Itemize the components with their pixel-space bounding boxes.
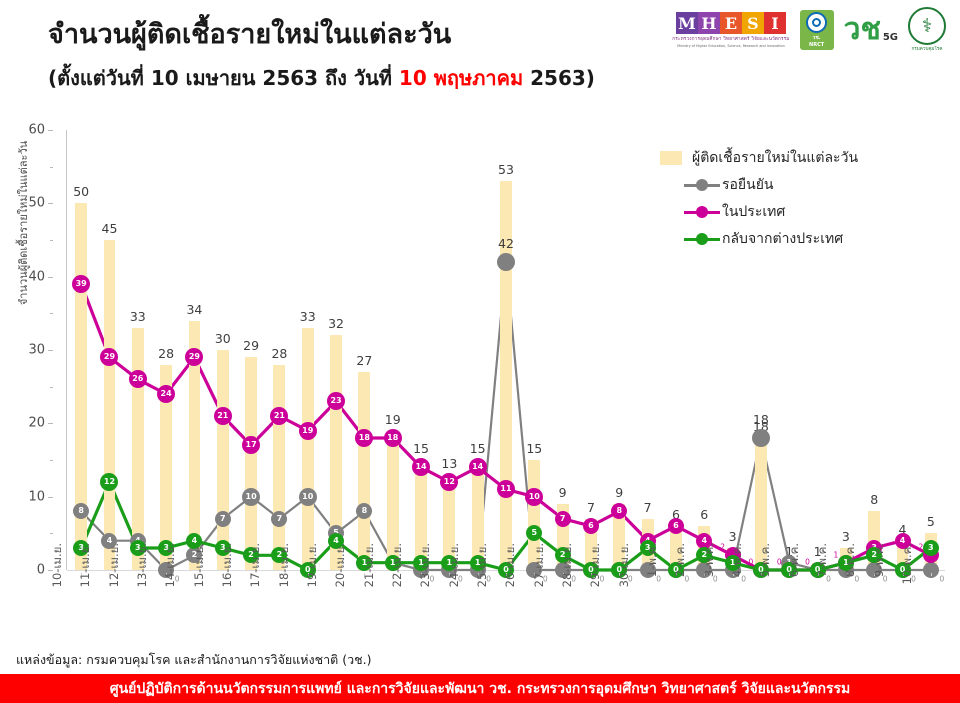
data-point[interactable]: 5 xyxy=(526,525,542,541)
x-tick-label: 15-เม.ย. xyxy=(191,543,209,607)
y-tick-20: 20 xyxy=(28,416,45,431)
data-point[interactable]: 23 xyxy=(327,392,345,410)
bar-value-label: 29 xyxy=(243,338,259,353)
subtitle-highlight: 10 พฤษภาคม xyxy=(399,66,523,90)
x-tick-label: 17-เม.ย. xyxy=(247,543,265,607)
y-tick-minor xyxy=(50,387,53,388)
nrct-line2: NRCT xyxy=(809,42,824,48)
chart-subtitle: (ตั้งแต่วันที่ 10 เมษายน 2563 ถึง วันที่… xyxy=(48,62,648,94)
data-point[interactable]: 39 xyxy=(72,275,90,293)
data-point[interactable] xyxy=(752,429,770,447)
bar-value-label: 30 xyxy=(215,331,231,346)
bar[interactable] xyxy=(273,365,285,570)
data-point[interactable]: 7 xyxy=(271,511,287,527)
legend-label-bar: ผู้ติดเชื้อรายใหม่ในแต่ละวัน xyxy=(692,147,858,169)
bar[interactable] xyxy=(245,357,257,570)
data-point[interactable]: 12 xyxy=(440,473,458,491)
mhesi-logo: M H E S I กระทรวงการอุดมศึกษา วิทยาศาสตร… xyxy=(672,12,789,48)
y-tick-0: 0 xyxy=(37,563,45,578)
data-point[interactable]: 10 xyxy=(525,488,543,506)
y-tick-minor xyxy=(50,167,53,168)
legend-item-domestic[interactable]: ในประเทศ xyxy=(660,198,950,225)
y-tick-10: 10 xyxy=(28,489,45,504)
x-tick-label: 23-เม.ย. xyxy=(417,543,435,607)
data-point[interactable]: 7 xyxy=(215,511,231,527)
bar[interactable] xyxy=(302,328,314,570)
bar-value-label: 5 xyxy=(927,514,935,529)
legend-marker-domestic xyxy=(684,205,720,219)
data-point[interactable]: 29 xyxy=(100,348,118,366)
y-tick-mark xyxy=(48,277,53,278)
chart-area: จำนวนผู้ติดเชื้อรายใหม่ในแต่ละวัน 010203… xyxy=(0,118,960,645)
legend-item-pending[interactable]: รอยืนยัน xyxy=(660,171,950,198)
bar-value-label: 9 xyxy=(615,485,623,500)
data-point[interactable]: 21 xyxy=(270,407,288,425)
x-tick-label: 30-เม.ย. xyxy=(616,543,634,607)
legend-item-imported[interactable]: กลับจากต่างประเทศ xyxy=(660,225,950,252)
mhesi-letter-i: I xyxy=(764,12,786,34)
x-tick-label: 20-เม.ย. xyxy=(332,543,350,607)
data-point[interactable]: 18 xyxy=(384,429,402,447)
data-point[interactable]: 8 xyxy=(611,503,627,519)
data-point-label: 0 xyxy=(805,558,810,566)
x-tick-label: 6-พ.ค. xyxy=(786,543,804,607)
title-block: จำนวนผู้ติดเชื้อรายใหม่ในแต่ละวัน (ตั้งแ… xyxy=(48,18,648,94)
mhesi-letters: M H E S I xyxy=(676,12,786,34)
data-point[interactable]: 8 xyxy=(356,503,372,519)
x-tick-mark xyxy=(931,573,932,576)
subtitle-suffix: 2563) xyxy=(523,66,595,90)
data-point[interactable]: 3 xyxy=(923,540,939,556)
bar-value-label: 13 xyxy=(441,456,457,471)
data-point[interactable]: 26 xyxy=(129,370,147,388)
y-tick-50: 50 xyxy=(28,196,45,211)
x-tick-label: 21-เม.ย. xyxy=(361,543,379,607)
bar-value-label: 6 xyxy=(700,507,708,522)
x-tick-label: 3-พ.ค. xyxy=(701,543,719,607)
x-tick-label: 19-เม.ย. xyxy=(304,543,322,607)
y-axis-ticks: 0102030405060 xyxy=(0,118,67,570)
bar-value-label: 3 xyxy=(842,529,850,544)
footer-banner: ศูนย์ปฏิบัติการด้านนวัตกรรมการแพทย์ และก… xyxy=(0,674,960,703)
chart-legend: ผู้ติดเชื้อรายใหม่ในแต่ละวัน รอยืนยัน ใน… xyxy=(660,144,950,252)
data-point[interactable]: 14 xyxy=(412,458,430,476)
data-point[interactable]: 6 xyxy=(583,518,599,534)
x-tick-label: 27-เม.ย. xyxy=(531,543,549,607)
data-point[interactable]: 19 xyxy=(299,422,317,440)
data-point[interactable]: 29 xyxy=(185,348,203,366)
bar-value-label: 53 xyxy=(498,162,514,177)
legend-label-pending: รอยืนยัน xyxy=(722,174,773,196)
x-tick-label: 26-เม.ย. xyxy=(502,543,520,607)
y-tick-minor xyxy=(50,313,53,314)
x-tick-label: 29-เม.ย. xyxy=(587,543,605,607)
data-point[interactable]: 14 xyxy=(469,458,487,476)
bar[interactable] xyxy=(358,372,370,570)
nrct-line1: วช. xyxy=(813,34,821,42)
x-tick-label: 2-พ.ค. xyxy=(672,543,690,607)
data-point[interactable]: 11 xyxy=(497,480,515,498)
data-point[interactable]: 6 xyxy=(668,518,684,534)
legend-marker-imported xyxy=(684,232,720,246)
x-tick-label: 16-เม.ย. xyxy=(219,543,237,607)
header: จำนวนผู้ติดเชื้อรายใหม่ในแต่ละวัน (ตั้งแ… xyxy=(0,0,960,118)
bar-value-label: 19 xyxy=(385,412,401,427)
data-point[interactable]: 12 xyxy=(100,473,118,491)
data-point[interactable]: 18 xyxy=(355,429,373,447)
x-tick-label: 28-เม.ย. xyxy=(559,543,577,607)
y-tick-30: 30 xyxy=(28,343,45,358)
x-tick-label: 1-พ.ค. xyxy=(644,543,662,607)
mhesi-tagline-en: Ministry of Higher Education, Science, R… xyxy=(677,44,785,48)
data-point-label: 1 xyxy=(833,551,838,559)
subtitle-prefix: (ตั้งแต่วันที่ 10 เมษายน 2563 ถึง วันที่ xyxy=(48,66,399,90)
y-tick-mark xyxy=(48,130,53,131)
bar-value-label: 15 xyxy=(413,441,429,456)
x-tick-label: 10-เม.ย. xyxy=(49,543,67,607)
y-tick-mark xyxy=(48,350,53,351)
bar-value-label: 33 xyxy=(300,309,316,324)
bar-value-label: 33 xyxy=(130,309,146,324)
data-point-label: 0 xyxy=(777,558,782,566)
data-point[interactable]: 8 xyxy=(73,503,89,519)
legend-marker-pending xyxy=(684,178,720,192)
bar-value-label: 3 xyxy=(729,529,737,544)
legend-label-domestic: ในประเทศ xyxy=(722,201,785,223)
bar-value-label: 28 xyxy=(158,346,174,361)
x-tick-label: 5-พ.ค. xyxy=(757,543,775,607)
bar-value-label: 15 xyxy=(470,441,486,456)
spike-value-label: 18 xyxy=(753,412,769,427)
dmsc-logo: ⚕ กรมควบคุมโรค xyxy=(908,7,946,53)
x-tick-label: 18-เม.ย. xyxy=(276,543,294,607)
mhesi-letter-e: E xyxy=(720,12,742,34)
x-tick-label: 8-พ.ค. xyxy=(842,543,860,607)
y-tick-mark xyxy=(48,497,53,498)
data-point[interactable] xyxy=(497,253,515,271)
x-tick-label: 24-เม.ย. xyxy=(446,543,464,607)
nrct-logo: วช. NRCT xyxy=(800,10,834,50)
mhesi-letter-h: H xyxy=(698,12,720,34)
x-tick-label: 10-พ.ค. xyxy=(899,543,917,607)
spike-value-label: 42 xyxy=(498,236,514,251)
y-tick-mark xyxy=(48,423,53,424)
bar-value-label: 50 xyxy=(73,184,89,199)
x-tick-label: 11-เม.ย. xyxy=(77,543,95,607)
dmsc-tagline: กรมควบคุมโรค xyxy=(912,46,943,53)
mhesi-letter-m: M xyxy=(676,12,698,34)
mhesi-letter-s: S xyxy=(742,12,764,34)
data-point[interactable]: 21 xyxy=(214,407,232,425)
x-tick-label: 7-พ.ค. xyxy=(814,543,832,607)
y-tick-minor xyxy=(50,460,53,461)
bar-value-label: 45 xyxy=(102,221,118,236)
x-tick-label: 22-เม.ย. xyxy=(389,543,407,607)
bar-value-label: 28 xyxy=(271,346,287,361)
legend-item-bar[interactable]: ผู้ติดเชื้อรายใหม่ในแต่ละวัน xyxy=(660,144,950,171)
data-point[interactable]: 24 xyxy=(157,385,175,403)
logo-strip: M H E S I กระทรวงการอุดมศึกษา วิทยาศาสตร… xyxy=(672,6,946,54)
data-point[interactable]: 10 xyxy=(299,488,317,506)
x-tick-label: 14-เม.ย. xyxy=(162,543,180,607)
x-tick-label: 25-เม.ย. xyxy=(474,543,492,607)
bar-value-label: 7 xyxy=(587,500,595,515)
caduceus-icon: ⚕ xyxy=(908,7,946,45)
bar[interactable] xyxy=(104,240,116,570)
y-tick-minor xyxy=(50,240,53,241)
vor-mark: วช xyxy=(844,15,881,45)
bar[interactable] xyxy=(217,350,229,570)
y-tick-40: 40 xyxy=(28,269,45,284)
mhesi-tagline-th: กระทรวงการอุดมศึกษา วิทยาศาสตร์ วิจัยและ… xyxy=(672,36,789,43)
x-tick-label: 13-เม.ย. xyxy=(134,543,152,607)
x-tick-label: 12-เม.ย. xyxy=(106,543,124,607)
bar-value-label: 9 xyxy=(559,485,567,500)
data-point[interactable]: 17 xyxy=(242,436,260,454)
data-point-label: 0 xyxy=(749,558,754,566)
vor-5g-logo: วช 5G xyxy=(844,15,898,45)
vor-5g-label: 5G xyxy=(883,32,898,43)
bar-value-label: 34 xyxy=(186,302,202,317)
source-note: แหล่งข้อมูล: กรมควบคุมโรค และสำนักงานการ… xyxy=(16,650,371,670)
bar-value-label: 15 xyxy=(526,441,542,456)
x-axis-labels: 10-เม.ย.11-เม.ย.12-เม.ย.13-เม.ย.14-เม.ย.… xyxy=(67,573,945,645)
data-point[interactable]: 7 xyxy=(555,511,571,527)
legend-label-imported: กลับจากต่างประเทศ xyxy=(722,228,843,250)
bar-value-label: 27 xyxy=(356,353,372,368)
bar-value-label: 8 xyxy=(870,492,878,507)
y-tick-60: 60 xyxy=(28,123,45,138)
data-point[interactable]: 10 xyxy=(242,488,260,506)
x-tick-label: 9-พ.ค. xyxy=(871,543,889,607)
nrct-wheel-icon xyxy=(806,12,827,33)
x-tick-label: 4-พ.ค. xyxy=(729,543,747,607)
bar-value-label: 32 xyxy=(328,316,344,331)
y-tick-minor xyxy=(50,533,53,534)
data-point-label: 2 xyxy=(720,544,725,552)
legend-swatch-bar xyxy=(660,151,682,165)
page-title: จำนวนผู้ติดเชื้อรายใหม่ในแต่ละวัน xyxy=(48,18,648,52)
y-tick-mark xyxy=(48,203,53,204)
bar-value-label: 7 xyxy=(644,500,652,515)
